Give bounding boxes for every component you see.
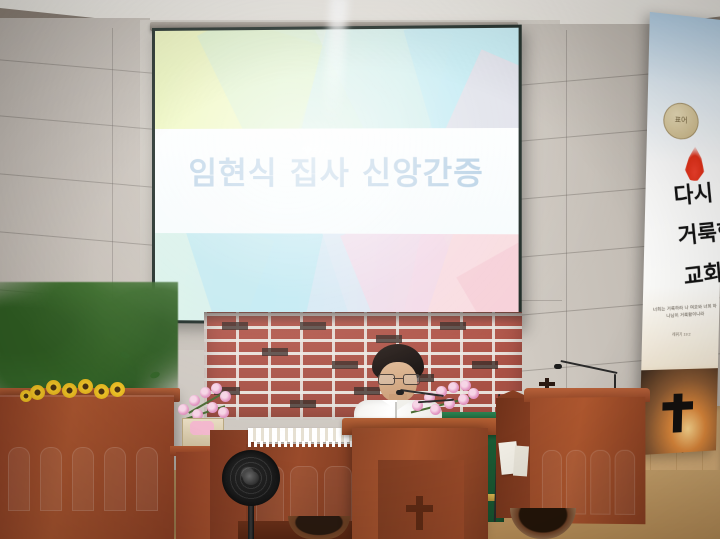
planter-arch-panel [8,447,30,511]
cross-icon [416,496,423,530]
orchid-bloom [430,404,441,415]
planter-arch-panel [136,447,158,511]
church-sanctuary-photo: 임현식 집사 신앙간증 표어 다시 거룩한 교회로 너희는 거룩하라 나 여호와… [0,0,720,539]
projection-screen: 임현식 집사 신앙간증 [152,25,522,327]
orchid-bloom [200,387,211,398]
glasses-lens [378,374,395,385]
paper-sheet [513,446,529,477]
sunflower [62,383,77,398]
right-pulpit [530,397,645,525]
fan-hub [243,471,259,485]
dark-brick [262,348,288,356]
slide-band-bottom [155,233,519,323]
orchid-bloom [220,391,231,402]
orchid-bloom [207,402,218,413]
projection-screen-surface: 임현식 집사 신앙간증 [155,28,519,324]
orchid-bloom [218,407,229,418]
sunflower [46,380,61,395]
pulpit-arch-panel [590,450,610,515]
pulpit-arch-panel [542,450,562,514]
microphone-head [554,364,562,369]
orchid-bloom [189,395,200,406]
dark-brick [290,400,316,408]
glasses-bridge [393,378,403,379]
brick-top-shadow [204,312,522,324]
banner-line-2: 거룩한 [676,213,720,251]
orchid-bloom [468,388,479,399]
planter-arch-panel [72,447,94,511]
orchid-bloom [448,382,459,393]
banner-seal: 표어 [663,101,699,140]
wall-corner-seam [566,30,567,410]
cross-icon [673,394,683,433]
orchid-bloom [178,404,189,415]
banner-verse-reference: 레위기 19:2 [672,332,691,337]
planter-arch-panel [40,447,62,511]
sunflower [78,379,93,394]
left-planter-box [0,395,174,539]
sunflower [30,385,45,400]
slide-title: 임현식 집사 신앙간증 [155,147,519,193]
banner-verse-text: 너희는 거룩하라 나 여호와 너희 하나님이 거룩함이니라 [653,304,718,322]
dark-brick [472,361,498,369]
orchid-spray-right [410,378,480,418]
sunflower [110,382,125,397]
pulpit-arch-panel [615,450,636,515]
sunflower [20,390,32,402]
sunflower [94,384,109,399]
microphone-head [396,390,404,395]
banner-line-1: 다시 [672,175,714,211]
banner-line-3: 교회로 [682,253,720,292]
slide-band-top [155,28,519,130]
orchid-bloom [458,394,469,405]
pulpit-arch-panel [566,450,586,515]
church-vision-banner: 표어 다시 거룩한 교회로 너희는 거룩하라 나 여호와 너희 하나님이 거룩함… [639,12,720,455]
dark-brick [376,335,402,343]
planter-arch-panel [104,447,126,511]
